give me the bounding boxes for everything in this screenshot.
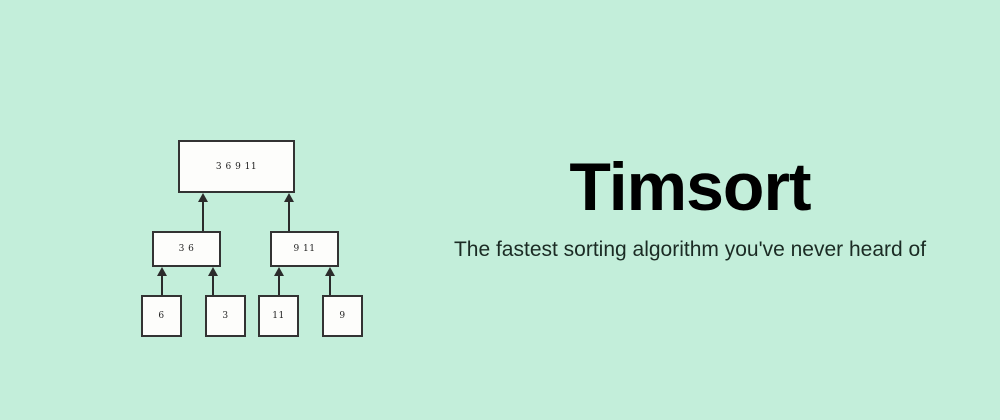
merge-arrow-leaf-1 (212, 274, 214, 295)
tree-node-leaf-2: 11 (258, 295, 299, 337)
hero-text-block: Timsort The fastest sorting algorithm yo… (410, 150, 970, 264)
tree-node-merged-right: 9 11 (270, 231, 339, 267)
page-title: Timsort (410, 150, 970, 224)
merge-arrow-left-to-root (202, 200, 204, 231)
merge-arrow-leaf-3 (329, 274, 331, 295)
tree-node-root: 3 6 9 11 (178, 140, 295, 193)
merge-arrow-right-to-root (288, 200, 290, 231)
tree-node-leaf-1: 3 (205, 295, 246, 337)
merge-arrow-leaf-2 (278, 274, 280, 295)
merge-arrow-leaf-0 (161, 274, 163, 295)
page-subtitle: The fastest sorting algorithm you've nev… (410, 236, 970, 264)
tree-node-leaf-0: 6 (141, 295, 182, 337)
merge-sort-tree-diagram: 3 6 9 11 3 6 9 11 6 3 11 9 (0, 0, 420, 420)
tree-node-merged-left: 3 6 (152, 231, 221, 267)
tree-node-leaf-3: 9 (322, 295, 363, 337)
timsort-banner: 3 6 9 11 3 6 9 11 6 3 11 9 Timsort The f… (0, 0, 1000, 420)
